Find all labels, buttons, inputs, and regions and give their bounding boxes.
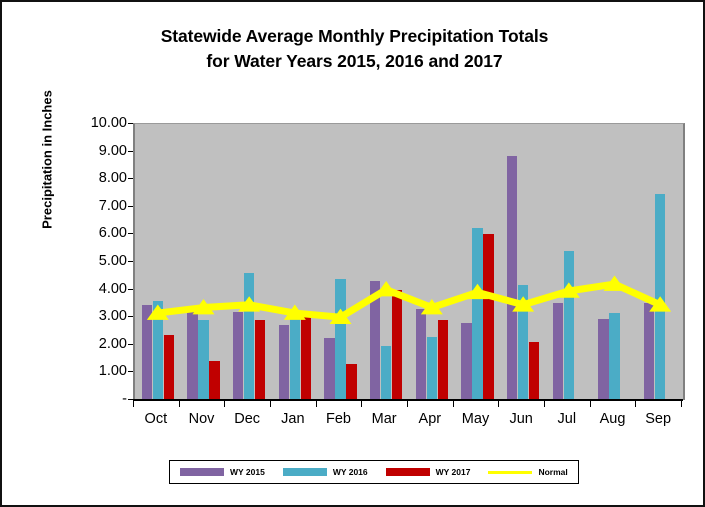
x-axis-tick (224, 399, 225, 407)
bar-wy-2015-feb (324, 338, 335, 400)
y-axis-tick-label: - (61, 391, 127, 407)
legend-swatch-icon (386, 468, 430, 476)
bar-wy-2016-mar (381, 346, 392, 400)
bar-wy-2016-feb (335, 279, 346, 400)
x-axis-tick (498, 399, 499, 407)
bar-wy-2015-aug (598, 319, 609, 400)
y-axis-tick-label: 5.00 (61, 253, 127, 269)
x-axis-tick (681, 399, 682, 407)
legend-label: Normal (538, 467, 567, 477)
bar-wy-2017-mar (392, 290, 403, 400)
x-axis-tick-label: Sep (628, 411, 688, 427)
chart-title-line-1: Statewide Average Monthly Precipitation … (161, 26, 549, 46)
x-axis-tick (544, 399, 545, 407)
y-axis-tick-label: 2.00 (61, 336, 127, 352)
legend-label: WY 2015 (230, 467, 265, 477)
chart-legend: WY 2015WY 2016WY 2017Normal (169, 460, 579, 484)
bar-wy-2017-jan (301, 317, 312, 400)
legend-label: WY 2017 (436, 467, 471, 477)
bar-wy-2016-apr (427, 337, 438, 400)
bar-wy-2016-dec (244, 273, 255, 400)
legend-label: WY 2016 (333, 467, 368, 477)
normal-marker-aug (604, 276, 626, 291)
y-axis-tick-label: 9.00 (61, 143, 127, 159)
x-axis-tick (590, 399, 591, 407)
x-axis-tick (316, 399, 317, 407)
bar-wy-2017-apr (438, 320, 449, 400)
y-axis-tick-labels: 10.009.008.007.006.005.004.003.002.001.0… (57, 2, 127, 507)
x-axis-tick (453, 399, 454, 407)
bar-wy-2016-jun (518, 285, 529, 400)
bar-wy-2015-jan (279, 325, 290, 400)
bar-wy-2017-nov (209, 361, 220, 400)
bar-wy-2016-jul (564, 251, 575, 400)
legend-item-wy-2015[interactable]: WY 2015 (180, 467, 265, 477)
y-axis-tick-label: 6.00 (61, 225, 127, 241)
legend-swatch-icon (283, 468, 327, 476)
bar-wy-2015-jul (553, 303, 564, 400)
bar-wy-2016-nov (198, 320, 209, 400)
bar-wy-2017-may (483, 234, 494, 400)
legend-swatch-icon (488, 471, 532, 474)
bar-wy-2015-dec (233, 312, 244, 400)
y-axis-tick-label: 3.00 (61, 308, 127, 324)
x-axis-tick (179, 399, 180, 407)
bar-wy-2017-oct (164, 335, 175, 400)
x-axis-line (133, 399, 683, 401)
bar-wy-2016-oct (153, 301, 164, 400)
x-axis-tick (133, 399, 134, 407)
bar-wy-2017-dec (255, 320, 266, 400)
bar-wy-2015-sep (644, 303, 655, 400)
bar-wy-2016-may (472, 228, 483, 401)
x-axis-tick (407, 399, 408, 407)
x-axis-tick (361, 399, 362, 407)
legend-item-normal[interactable]: Normal (488, 467, 567, 477)
plot-area (133, 123, 685, 400)
y-axis-tick-label: 8.00 (61, 170, 127, 186)
legend-item-wy-2016[interactable]: WY 2016 (283, 467, 368, 477)
bar-wy-2016-sep (655, 194, 666, 400)
precipitation-chart: Statewide Average Monthly Precipitation … (0, 0, 705, 507)
legend-item-wy-2017[interactable]: WY 2017 (386, 467, 471, 477)
y-axis-title: Precipitation in Inches (40, 45, 55, 275)
bar-wy-2015-may (461, 323, 472, 400)
bar-wy-2016-aug (609, 313, 620, 400)
y-axis-tick-label: 10.00 (61, 115, 127, 131)
bar-wy-2015-nov (187, 312, 198, 400)
bar-wy-2017-feb (346, 364, 357, 400)
bar-wy-2017-jun (529, 342, 540, 400)
bar-wy-2015-mar (370, 281, 381, 400)
y-axis-tick-label: 1.00 (61, 363, 127, 379)
y-axis-tick-label: 7.00 (61, 198, 127, 214)
bar-wy-2015-jun (507, 156, 518, 400)
x-axis-tick (635, 399, 636, 407)
bar-wy-2015-apr (416, 309, 427, 400)
bar-wy-2016-jan (290, 312, 301, 400)
x-axis-tick (270, 399, 271, 407)
y-axis-tick-label: 4.00 (61, 281, 127, 297)
bar-wy-2015-oct (142, 305, 153, 400)
legend-swatch-icon (180, 468, 224, 476)
